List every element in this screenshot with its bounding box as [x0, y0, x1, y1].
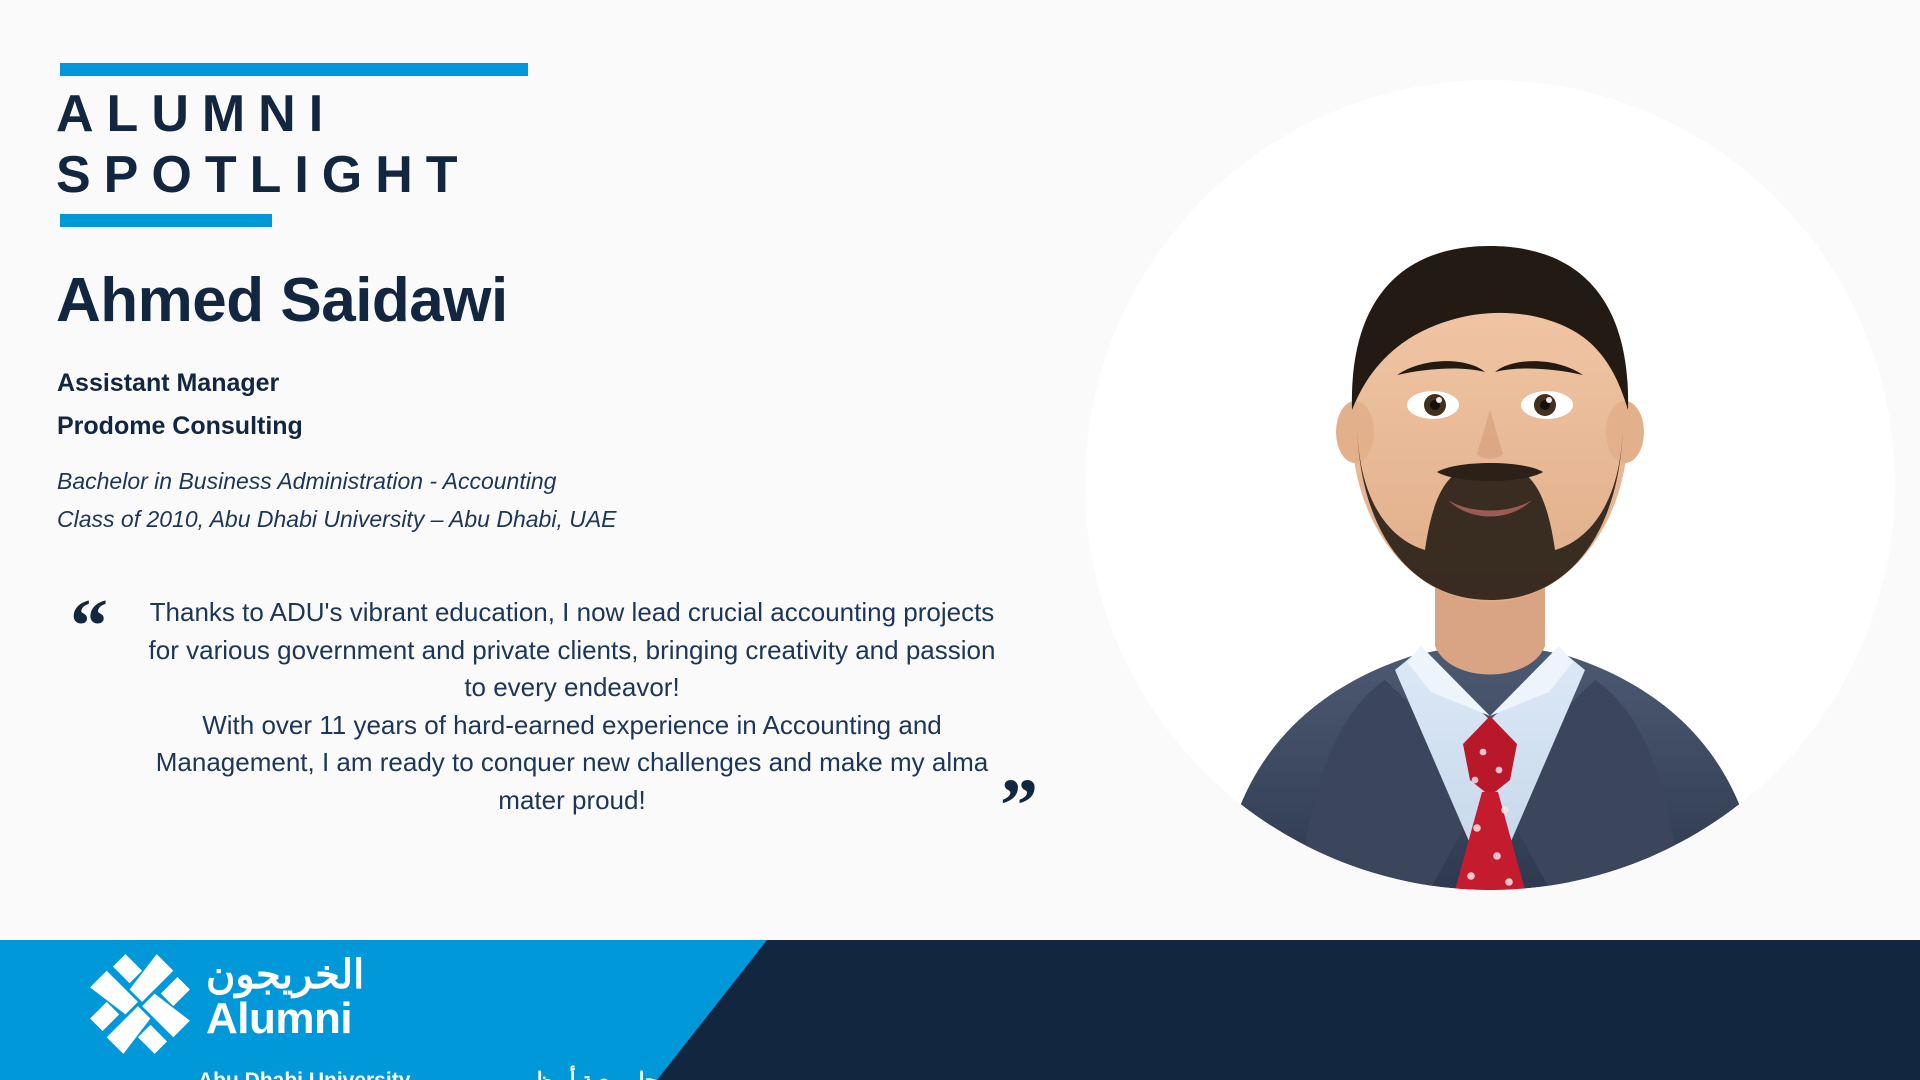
alumni-spotlight-card: ALUMNI SPOTLIGHT Ahmed Saidawi Assistant…: [0, 0, 1920, 1080]
degree-line: Bachelor in Business Administration - Ac…: [57, 462, 617, 500]
university-name: Abu Dhabi University جامـــعـة أبوظـبـي: [198, 1068, 658, 1080]
accent-rule-bottom: [60, 214, 272, 227]
quote-open-icon: “: [70, 588, 108, 664]
kicker-line-alumni: ALUMNI: [56, 84, 756, 145]
page-title: ALUMNI SPOTLIGHT: [56, 84, 756, 206]
accent-rule-top: [60, 63, 528, 76]
avatar: [1085, 80, 1895, 890]
role-block: Assistant Manager Prodome Consulting: [57, 362, 303, 448]
logo-english-wordmark: Alumni: [206, 996, 364, 1042]
footer-bar: الخريجون Alumni Abu Dhabi University جام…: [0, 940, 1920, 1080]
logo-wordmark: الخريجون Alumni Abu Dhabi University جام…: [206, 952, 364, 1042]
alumnus-name: Ahmed Saidawi: [56, 265, 508, 336]
quote-close-icon: ”: [1000, 768, 1038, 844]
content-column: ALUMNI SPOTLIGHT Ahmed Saidawi Assistant…: [0, 0, 1060, 940]
university-name-english: Abu Dhabi University: [198, 1069, 410, 1080]
logo-arabic-wordmark: الخريجون: [206, 954, 364, 996]
portrait-illustration: [1085, 80, 1895, 890]
quote-text: Thanks to ADU's vibrant education, I now…: [142, 594, 1002, 819]
class-year-line: Class of 2010, Abu Dhabi University – Ab…: [57, 500, 617, 538]
education-block: Bachelor in Business Administration - Ac…: [57, 462, 617, 538]
adu-alumni-logo[interactable]: الخريجون Alumni Abu Dhabi University جام…: [88, 952, 364, 1056]
university-name-arabic: جامـــعـة أبوظـبـي: [500, 1068, 658, 1080]
kicker-line-spotlight: SPOTLIGHT: [56, 145, 756, 206]
adu-pinwheel-logo-icon: [88, 952, 192, 1056]
company-name: Prodome Consulting: [57, 405, 303, 448]
job-title: Assistant Manager: [57, 362, 303, 405]
